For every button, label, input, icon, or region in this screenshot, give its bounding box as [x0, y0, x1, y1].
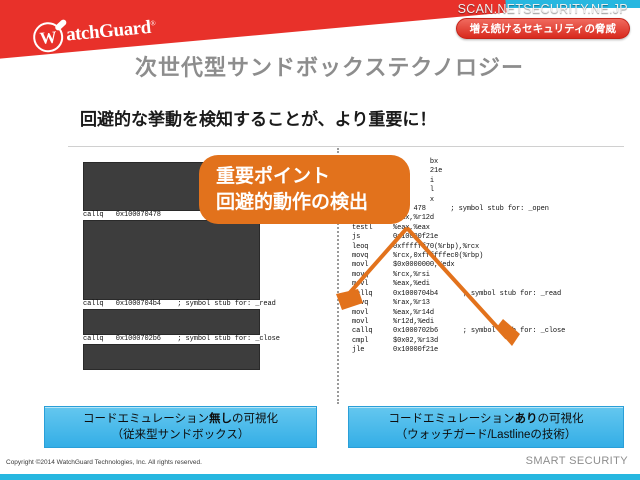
slide: W atchGuard® SCAN.NETSECURITY.NE.JP 増え続け…: [0, 0, 640, 480]
asm-line: movq %rcx,0xffffffec0(%rbp): [352, 252, 612, 261]
watchguard-logo-mark-icon: W: [32, 21, 65, 54]
asm-line: cmpl $0x02,%r13d: [352, 337, 612, 346]
redacted-code-block: [83, 309, 260, 335]
logo-letter: W: [39, 28, 57, 46]
code-line: callq 0x1000702b6 ; symbol stub for: _cl…: [83, 335, 258, 344]
asm-line: movl $0x0000000,%edx: [352, 261, 612, 270]
watermark: SCAN.NETSECURITY.NE.JP 増え続けるセキュリティの脅威: [456, 2, 630, 39]
asm-line: movl %r12d,%edi: [352, 318, 612, 327]
caption-left-line1: コードエミュレーション無しの可視化: [83, 411, 278, 427]
page-title: 次世代型サンドボックステクノロジー: [135, 50, 524, 82]
caption-right: コードエミュレーションありの可視化 （ウォッチガード/Lastlineの技術）: [348, 406, 624, 448]
callout-line-2: 回避的動作の検出: [216, 190, 410, 216]
watermark-badge: 増え続けるセキュリティの脅威: [456, 18, 630, 39]
asm-line: testl %eax,%eax: [352, 224, 612, 233]
copyright-text: Copyright ©2014 WatchGuard Technologies,…: [6, 459, 202, 466]
page-subtitle: 回避的な挙動を検知することが、より重要に！: [80, 105, 436, 130]
asm-line: movq %rcx,%rsi: [352, 271, 612, 280]
redacted-code-block: [83, 344, 260, 370]
bottom-accent-bar: [0, 474, 640, 480]
trademark-icon: ®: [150, 19, 156, 27]
asm-line: js 0x10000f21e: [352, 233, 612, 242]
caption-right-line2: （ウォッチガード/Lastlineの技術）: [396, 427, 577, 443]
asm-line: leoq 0xffffff70(%rbp),%rcx: [352, 243, 612, 252]
logo-wordmark: atchGuard®: [65, 16, 157, 46]
code-line: callq 0x1000704b4 ; symbol stub for: _re…: [83, 300, 258, 309]
asm-line: movl %eax,%r14d: [352, 309, 612, 318]
asm-line: movq %rax,%r13: [352, 299, 612, 308]
caption-left: コードエミュレーション無しの可視化 （従来型サンドボックス）: [44, 406, 317, 448]
tagline-text: SMART SECURITY: [526, 455, 628, 467]
caption-right-line1: コードエミュレーションありの可視化: [388, 411, 583, 427]
redacted-code-block: [83, 220, 260, 300]
asm-line: callq 0x1000702b6 ; symbol stub for: _cl…: [352, 327, 612, 336]
asm-line: jle 0x10000f21e: [352, 346, 612, 355]
callout-line-1: 重要ポイント: [216, 164, 410, 190]
caption-left-line2: （従来型サンドボックス）: [112, 427, 250, 443]
asm-line: callq 0x1000704b4 ; symbol stub for: _re…: [352, 290, 612, 299]
watermark-url: SCAN.NETSECURITY.NE.JP: [456, 2, 630, 16]
asm-line: movl %eax,%edi: [352, 280, 612, 289]
key-point-callout: 重要ポイント 回避的動作の検出: [199, 155, 410, 224]
